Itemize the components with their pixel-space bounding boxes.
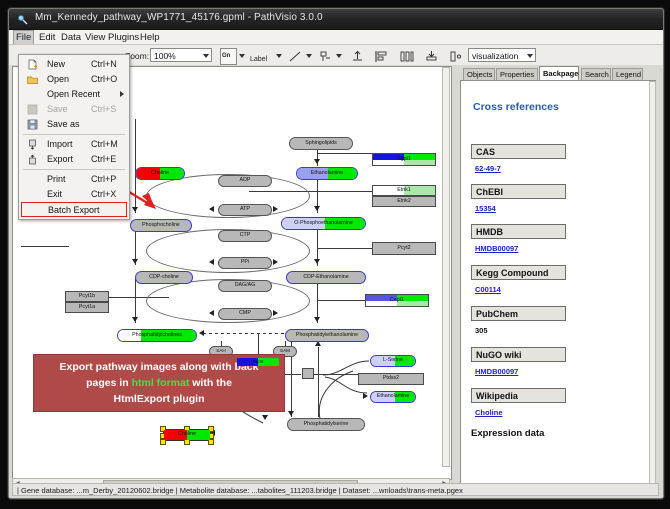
node-ctp[interactable]: CTP [218, 230, 272, 242]
arrow-icon [314, 206, 320, 211]
tab-search[interactable]: Search [581, 68, 611, 80]
title-bar: Mm_Kennedy_pathway_WP1771_45176.gpml - P… [9, 9, 663, 30]
node-sgpl1[interactable]: Sgpl1 [372, 153, 436, 166]
shape-tool-button[interactable] [317, 48, 334, 65]
status-bar-text: | Gene database: ...m_Derby_20120602.bri… [17, 486, 463, 495]
node-sphingolipids[interactable]: Sphingolipids [289, 137, 353, 150]
node-pemt[interactable]: Pemt [236, 357, 280, 367]
menu-item-save-as[interactable]: Save as [19, 117, 129, 132]
genebox-icon: Gn [222, 53, 230, 59]
ungroup-button[interactable] [447, 48, 464, 65]
menu-bar: File Edit Data View Plugins Help [9, 30, 663, 45]
arrow-icon [209, 310, 214, 316]
menu-item-new[interactable]: New Ctrl+N [19, 57, 129, 72]
chevron-down-icon [527, 54, 533, 58]
edge-left-in2 [21, 246, 69, 247]
menu-accel: Ctrl+S [91, 104, 116, 114]
tab-legend[interactable]: Legend [612, 68, 643, 80]
line-tool-button[interactable] [287, 48, 304, 65]
arrow-icon [132, 259, 138, 264]
annotation-line-2a: pages in [86, 377, 132, 389]
node-choline-selected[interactable]: Choline [163, 429, 211, 441]
align-left-button[interactable] [373, 48, 390, 65]
align-top-button[interactable] [349, 48, 366, 65]
node-phosphatidylcholines[interactable]: Phosphatidylcholines [117, 329, 197, 342]
visualization-value: visualization [472, 51, 518, 61]
arrow-icon [314, 317, 320, 322]
entry-title-cas: CAS [471, 144, 566, 159]
application-window: Mm_Kennedy_pathway_WP1771_45176.gpml - P… [8, 8, 664, 499]
side-panel-tabs: Objects Properties Backpage Search Legen… [457, 66, 659, 80]
label-tool-button[interactable]: Label [249, 48, 277, 65]
menu-item-open-recent[interactable]: Open Recent [19, 87, 129, 102]
node-pcyt2[interactable]: Pcyt2 [372, 242, 436, 255]
menu-accel: Ctrl+O [91, 74, 117, 84]
menu-label: Batch Export [48, 205, 100, 215]
node-ethanolamine[interactable]: Ethanolamine [296, 167, 358, 180]
align-left-icon [374, 49, 389, 64]
node-cmp[interactable]: CMP [218, 308, 272, 320]
annotation-highlight: html format [132, 377, 190, 389]
arrow-icon [262, 415, 268, 420]
chevron-right-icon [120, 91, 124, 97]
annotation-line-2b: with the [189, 377, 232, 389]
arrow-icon [273, 310, 278, 316]
node-l-serine[interactable]: L-Serine [370, 355, 416, 367]
node-dag-ag[interactable]: DAG/AG [218, 280, 272, 292]
datanode-tool-button[interactable]: Gn [220, 48, 237, 65]
line-icon [288, 49, 303, 64]
menu-separator [23, 134, 125, 135]
node-pcyt1b[interactable]: Pcyt1b [65, 291, 109, 302]
node-phosphatidylethanolamine[interactable]: Phosphatidylethanolamine [285, 329, 369, 342]
pathvisio-icon [17, 14, 28, 25]
entry-value-cas[interactable]: 62-49-7 [475, 164, 501, 173]
arrow-icon [132, 317, 138, 322]
menu-accel: Ctrl+N [91, 59, 117, 69]
edge-cept1 [317, 300, 365, 301]
edge-pemt-dashed [203, 333, 285, 334]
group-button[interactable] [423, 48, 440, 65]
menu-label: Print [47, 174, 66, 184]
entry-value-chebi[interactable]: 15354 [475, 204, 496, 213]
chevron-down-icon [203, 54, 209, 58]
node-etnk2[interactable]: Etnk2 [372, 196, 436, 207]
menu-item-batch-export[interactable]: Batch Export [21, 202, 127, 217]
node-cept1[interactable]: Cept1 [365, 294, 429, 307]
node-pcyt1a[interactable]: Pcyt1a [65, 302, 109, 313]
edge-sgpl1 [317, 153, 372, 154]
entry-value-wikipedia[interactable]: Choline [475, 408, 503, 417]
entry-title-nugo: NuGO wiki [471, 347, 566, 362]
node-phosphocholine[interactable]: Phosphocholine [130, 219, 192, 232]
menu-label: Export [47, 154, 73, 164]
line-dropdown-arrow[interactable] [306, 54, 312, 58]
datanode-dropdown-arrow[interactable] [239, 54, 245, 58]
side-panel: Objects Properties Backpage Search Legen… [457, 66, 659, 490]
annotation-line-2: pages in html format with the [34, 377, 284, 389]
menu-file[interactable]: File [13, 30, 34, 44]
canvas-vertical-scrollbar[interactable] [442, 67, 450, 467]
node-ppi[interactable]: PPi [218, 257, 272, 269]
group-icon [448, 49, 463, 64]
menu-data[interactable]: Data [58, 31, 84, 44]
menu-label: Exit [47, 189, 62, 199]
screenshot-root: Mm_Kennedy_pathway_WP1771_45176.gpml - P… [0, 0, 670, 509]
label-tool-label: Label [250, 56, 267, 63]
menu-accel: Ctrl+P [91, 174, 116, 184]
menu-accel: Ctrl+E [91, 154, 116, 164]
menu-item-export[interactable]: Export Ctrl+E [19, 152, 129, 167]
cross-references-heading: Cross references [473, 101, 559, 113]
shape-dropdown-arrow[interactable] [336, 54, 342, 58]
entry-title-wikipedia: Wikipedia [471, 388, 566, 403]
menu-item-save: Save Ctrl+S [19, 102, 129, 117]
align-center-button[interactable] [397, 48, 417, 65]
entry-value-pubchem: 305 [475, 326, 488, 335]
node-cdp-ethanolamine[interactable]: CDP-Ethanolamine [286, 271, 366, 284]
tab-properties[interactable]: Properties [496, 68, 538, 80]
node-cdp-choline[interactable]: CDP-choline [135, 271, 193, 284]
expression-data-heading: Expression data [471, 428, 544, 439]
entry-title-kegg: Kegg Compound [471, 265, 566, 280]
menu-label: New [47, 59, 65, 69]
backpage-pane: Cross references CAS 62-49-7 ChEBI 15354… [460, 80, 656, 486]
import-icon [27, 139, 38, 150]
label-dropdown-arrow[interactable] [276, 54, 282, 58]
status-bar: | Gene database: ...m_Derby_20120602.bri… [12, 483, 659, 496]
tab-backpage[interactable]: Backpage [539, 66, 579, 80]
menu-label: Import [47, 139, 73, 149]
arrow-icon [314, 259, 320, 264]
align-top-icon [350, 49, 365, 64]
menu-label: Open [47, 74, 69, 84]
file-menu-dropdown[interactable]: New Ctrl+N Open Ctrl+O Open Recent Save … [18, 54, 130, 220]
menu-label: Save [47, 104, 68, 114]
menu-item-open[interactable]: Open Ctrl+O [19, 72, 129, 87]
align-center-icon [398, 49, 416, 64]
zoom-combo[interactable]: 100% [150, 48, 212, 62]
arrow-icon [209, 259, 214, 265]
menu-item-print[interactable]: Print Ctrl+P [19, 172, 129, 187]
window-title: Mm_Kennedy_pathway_WP1771_45176.gpml - P… [35, 12, 323, 23]
export-icon [27, 154, 38, 165]
receptor-icon [318, 49, 333, 64]
arrow-icon [132, 207, 138, 212]
menu-label: Save as [47, 119, 80, 129]
save-as-icon [27, 119, 38, 130]
arrow-icon [314, 159, 320, 164]
node-ptdss2[interactable]: Ptdss2 [358, 373, 424, 385]
entry-value-kegg[interactable]: C00114 [475, 285, 501, 294]
side-panel-scrollbar[interactable] [649, 81, 656, 485]
menu-label: Open Recent [47, 89, 100, 99]
menu-separator [23, 169, 125, 170]
menu-edit[interactable]: Edit [36, 31, 58, 44]
arrow-icon [273, 206, 278, 212]
node-atp[interactable]: ATP [218, 204, 272, 216]
annotation-line-3: HtmlExport plugin [34, 393, 284, 405]
edge-pcyt2 [317, 248, 372, 249]
zoom-value: 100% [154, 51, 176, 61]
entry-title-chebi: ChEBI [471, 184, 566, 199]
tab-objects[interactable]: Objects [463, 68, 495, 80]
entry-title-hmdb: HMDB [471, 224, 566, 239]
visualization-combo[interactable]: visualization [468, 48, 536, 62]
entry-title-pubchem: PubChem [471, 306, 566, 321]
folder-open-icon [27, 74, 38, 85]
node-o-phosphoethanolamine[interactable]: O-Phosphoethanolamine [281, 217, 366, 230]
menu-accel: Ctrl+X [91, 189, 116, 199]
arrow-icon [199, 330, 204, 336]
menu-item-import[interactable]: Import Ctrl+M [19, 137, 129, 152]
node-adp[interactable]: ADP [218, 175, 272, 187]
stack-icon [424, 49, 439, 64]
arrow-icon [273, 259, 278, 265]
new-document-icon [27, 59, 38, 70]
menu-help[interactable]: Help [137, 31, 163, 44]
save-icon [27, 104, 38, 115]
node-ethanolamine-2[interactable]: Ethanolamine [370, 391, 416, 403]
menu-item-exit[interactable]: Exit Ctrl+X [19, 187, 129, 202]
arrow-icon [209, 206, 214, 212]
node-etnk1[interactable]: Etnk1 [372, 185, 436, 196]
entry-value-nugo[interactable]: HMDB00097 [475, 367, 518, 376]
entry-value-hmdb[interactable]: HMDB00097 [475, 244, 518, 253]
menu-accel: Ctrl+M [91, 139, 118, 149]
node-phosphatidylserine[interactable]: Phosphatidylserine [287, 418, 365, 431]
